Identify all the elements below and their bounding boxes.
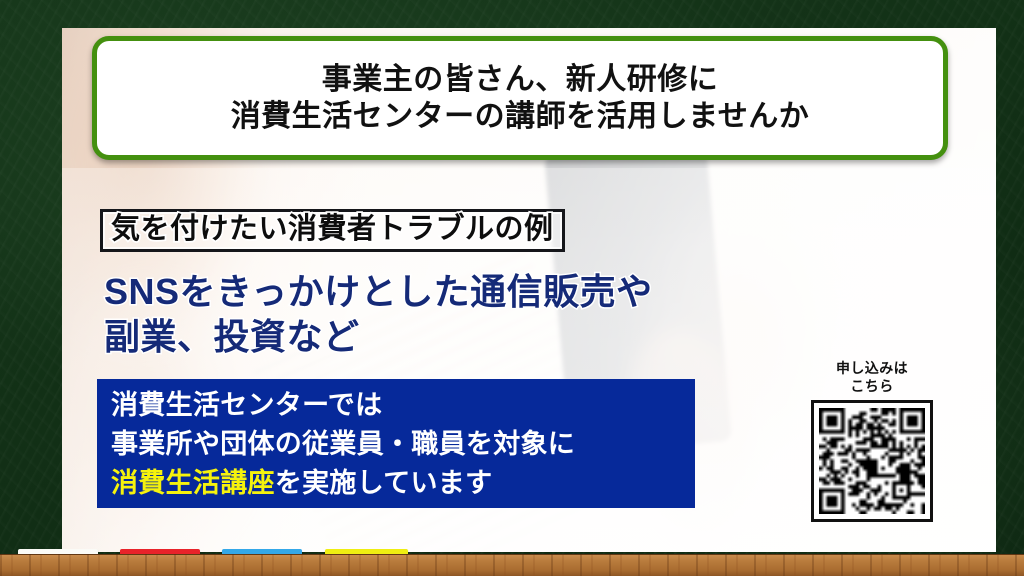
headline-line-2: 副業、投資など — [104, 315, 653, 360]
headline: SNSをきっかけとした通信販売や 副業、投資など — [104, 270, 653, 359]
title-line-2: 消費生活センターの講師を活用しませんか — [231, 99, 810, 134]
info-box-highlight: 消費生活講座 — [111, 468, 275, 498]
section-tag-label: 気を付けたい消費者トラブルの例 — [111, 214, 554, 244]
qr-block[interactable]: 申し込みは こちら — [806, 360, 938, 522]
title-banner: 事業主の皆さん、新人研修に 消費生活センターの講師を活用しませんか — [92, 36, 948, 160]
qr-frame[interactable] — [811, 400, 933, 522]
info-box-line-1: 消費生活センターでは — [111, 386, 695, 425]
info-box-line-3: 消費生活講座を実施しています — [111, 464, 695, 503]
section-tag-box: 気を付けたい消費者トラブルの例 — [100, 209, 565, 252]
headline-line-1: SNSをきっかけとした通信販売や — [104, 270, 653, 315]
qr-code-icon[interactable] — [819, 408, 925, 514]
title-line-1: 事業主の皆さん、新人研修に — [322, 62, 719, 97]
slide-stage: 事業主の皆さん、新人研修に 消費生活センターの講師を活用しませんか 気を付けたい… — [0, 0, 1024, 576]
info-box-line-3-rest: を実施しています — [275, 468, 493, 498]
chalk-ledge — [0, 554, 1024, 576]
qr-caption-line-2: こちら — [806, 378, 938, 396]
qr-caption-line-1: 申し込みは — [806, 360, 938, 378]
info-box-line-2: 事業所や団体の従業員・職員を対象に — [111, 425, 695, 464]
info-box: 消費生活センターでは 事業所や団体の従業員・職員を対象に 消費生活講座を実施して… — [97, 379, 695, 508]
